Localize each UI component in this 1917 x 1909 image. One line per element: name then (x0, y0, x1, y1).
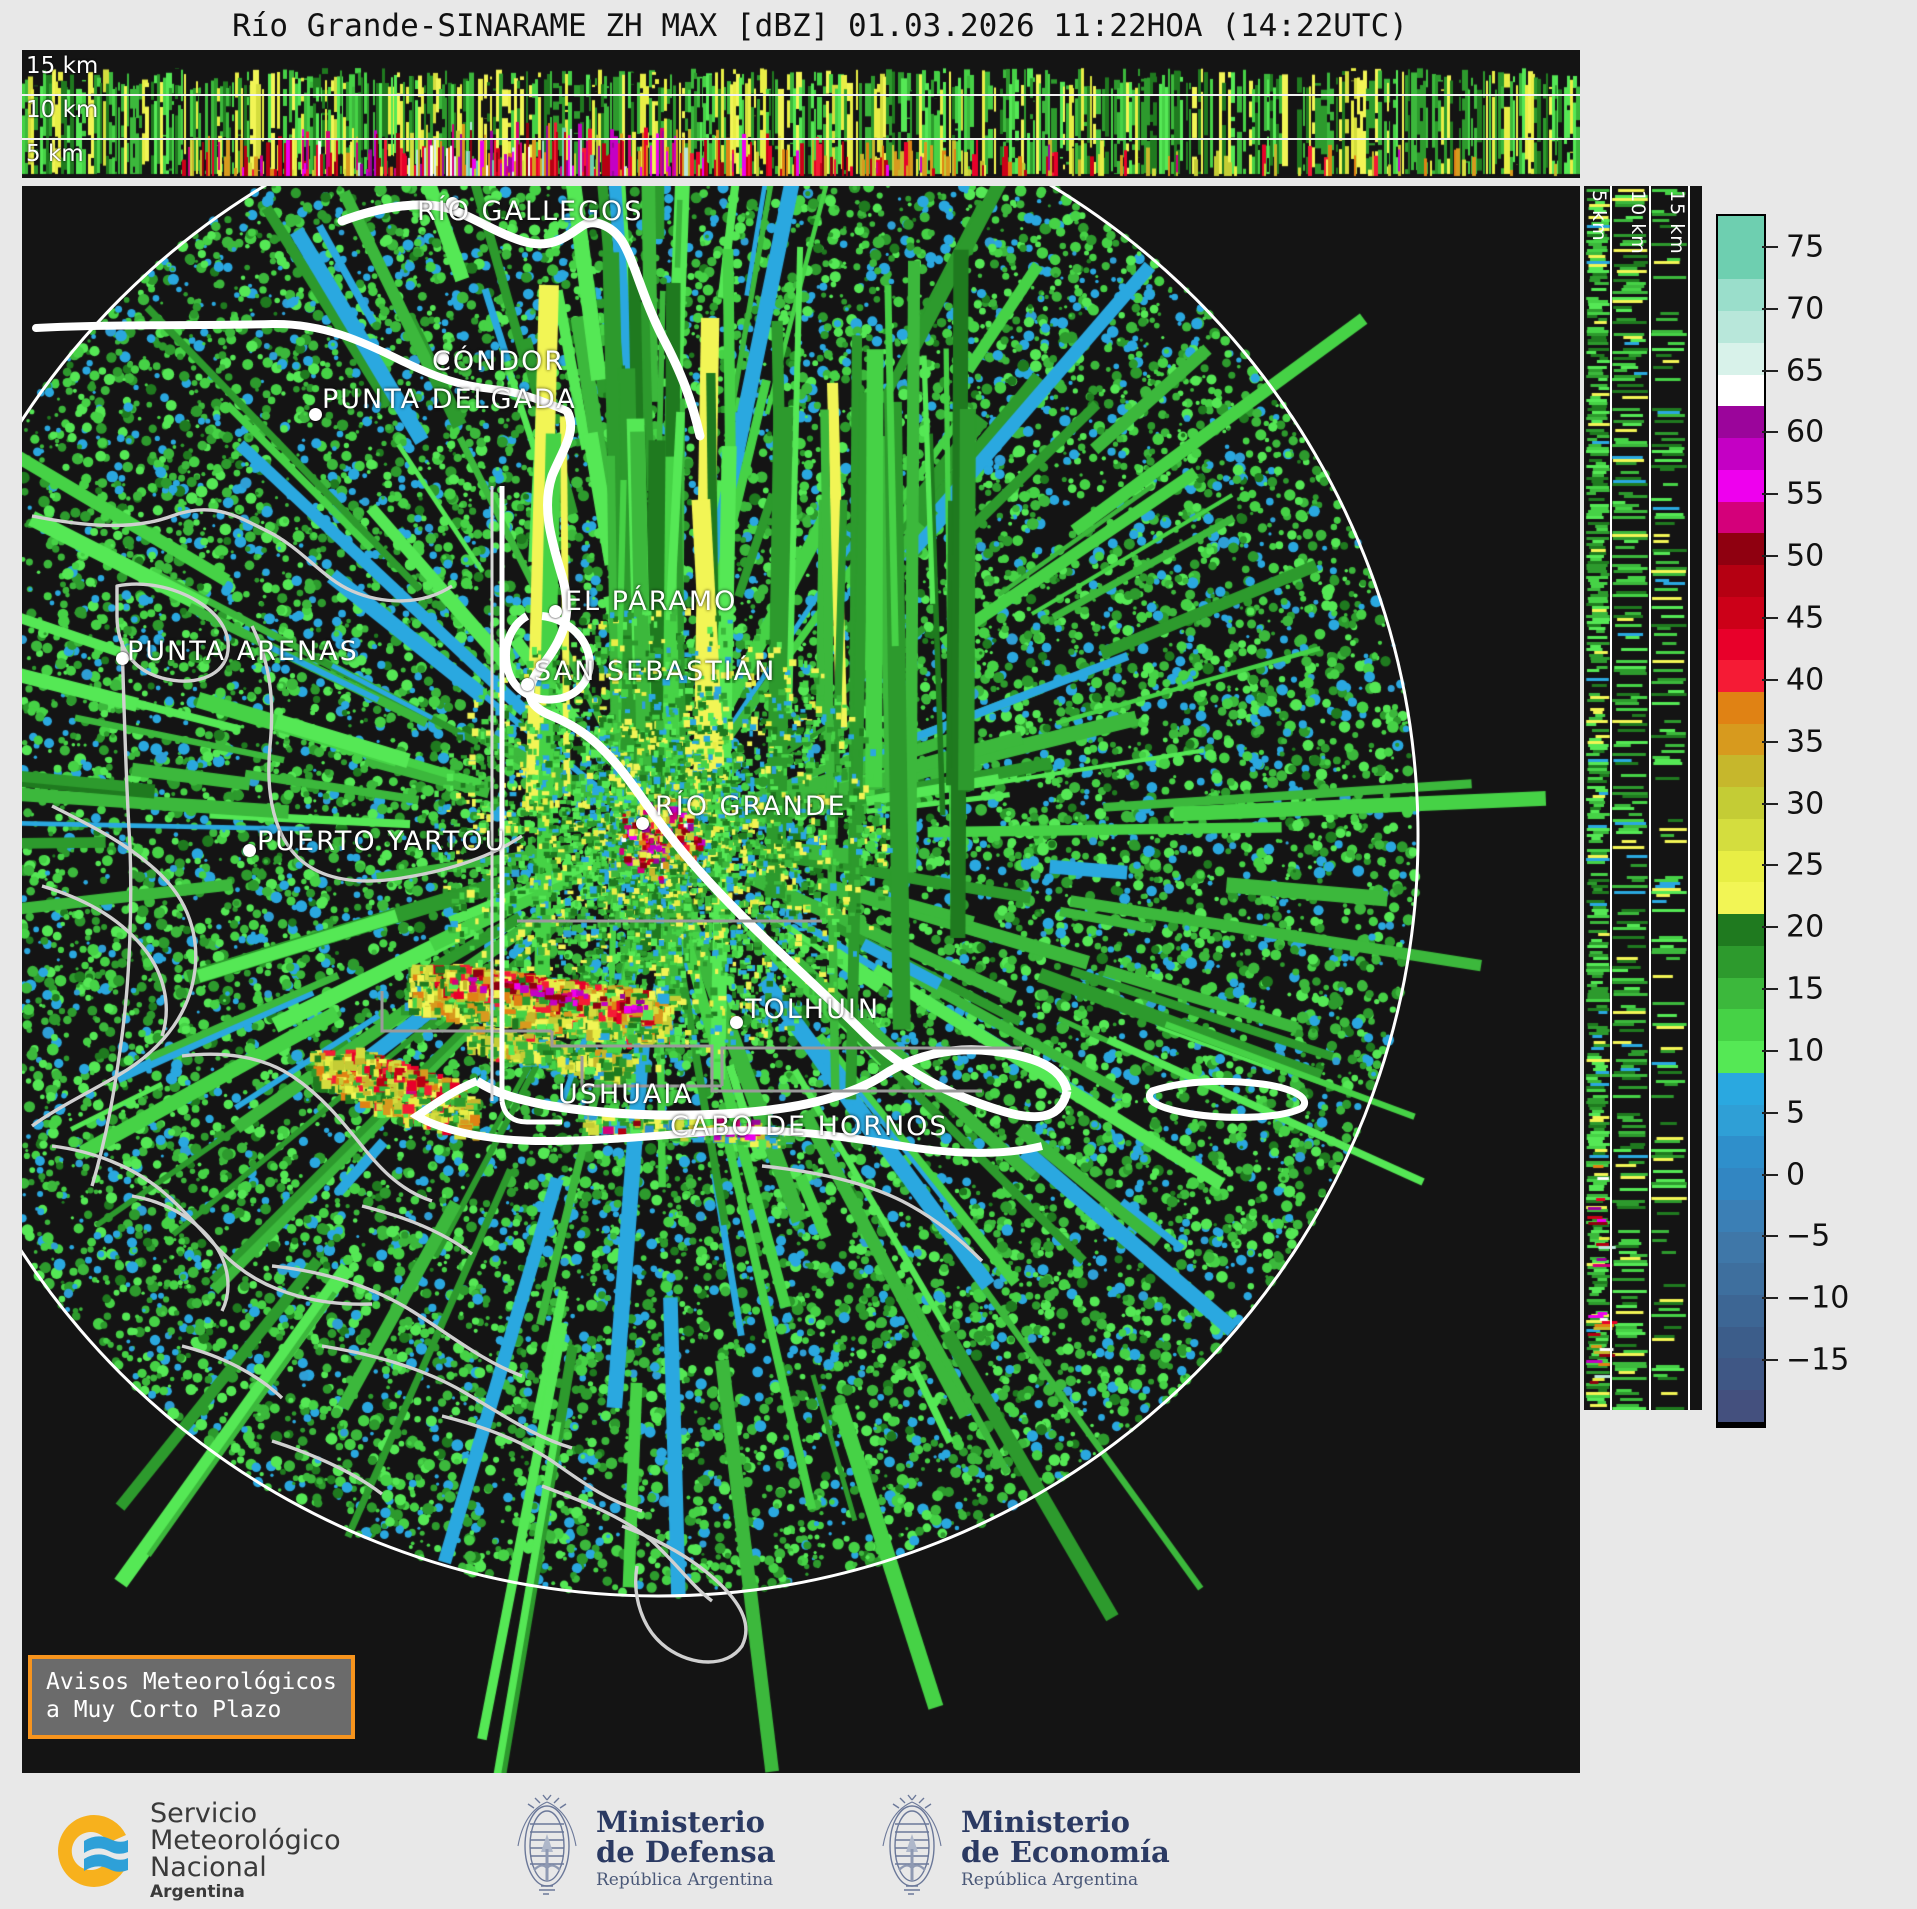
city-marker-dot[interactable] (309, 408, 322, 421)
island-estados (1149, 1081, 1304, 1117)
city-label: RÍO GRANDE (655, 791, 847, 822)
coast-thin-1 (32, 510, 452, 601)
colorbar-segment (1718, 597, 1764, 629)
colorbar-segment (1718, 851, 1764, 883)
colorbar-segment (1718, 787, 1764, 819)
colorbar-tick (1762, 741, 1778, 743)
colorbar-tick (1762, 1359, 1778, 1361)
colorbar-segment (1718, 343, 1764, 375)
colorbar-segment (1718, 1358, 1764, 1390)
warning-badge-line2: a Muy Corto Plazo (46, 1696, 337, 1724)
warning-badge[interactable]: Avisos Meteorológicos a Muy Corto Plazo (28, 1655, 355, 1739)
colorbar-segment (1718, 882, 1764, 914)
strip-label-15km: 15 km (1666, 190, 1688, 255)
economia-line-3: República Argentina (961, 1872, 1170, 1890)
colorbar-segment (1718, 660, 1764, 692)
ministerio-economia-text: Ministerio de Economía República Argenti… (961, 1807, 1170, 1890)
strip-label-5km: 5 km (1588, 190, 1610, 242)
strip-rule-5km (1610, 186, 1612, 1410)
defensa-line-2: de Defensa (596, 1837, 776, 1867)
colorbar-segment (1718, 1168, 1764, 1200)
colorbar-tick-label: 50 (1786, 539, 1824, 574)
city-marker-dot[interactable] (549, 605, 562, 618)
smn-logo-text: Servicio Meteorológico Nacional Argentin… (150, 1800, 341, 1901)
cross-section-gridline-5km (22, 138, 1580, 140)
smn-line-2: Meteorológico (150, 1827, 341, 1854)
strip-rule-10km (1649, 186, 1651, 1410)
border-5 (382, 991, 552, 1031)
smn-line-1: Servicio (150, 1800, 341, 1827)
colorbar-segment (1718, 914, 1764, 946)
strip-label-10km: 10 km (1627, 190, 1649, 255)
argentina-shield-icon-defensa (510, 1794, 584, 1902)
colorbar-segment (1718, 502, 1764, 534)
colorbar-tick (1762, 555, 1778, 557)
coast-thin-4 (32, 806, 196, 1126)
colorbar-segment (1718, 438, 1764, 470)
ministerio-defensa-text: Ministerio de Defensa República Argentin… (596, 1807, 776, 1890)
coast-thin-10 (322, 1346, 572, 1448)
cross-section-label-15km: 15 km (26, 53, 98, 79)
smn-line-3: Nacional (150, 1854, 341, 1881)
coast-thin-11 (442, 1416, 642, 1511)
colorbar-segment (1718, 533, 1764, 565)
cross-section-echo-canvas (22, 50, 1580, 178)
colorbar-tick-label: 60 (1786, 415, 1824, 450)
colorbar-tick-label: 55 (1786, 477, 1824, 512)
colorbar-tick-label: 35 (1786, 724, 1824, 759)
coast-thin-16 (182, 1346, 282, 1398)
colorbar-tick-label: 10 (1786, 1033, 1824, 1068)
colorbar-tick-label: 70 (1786, 291, 1824, 326)
colorbar-tick (1762, 1235, 1778, 1237)
cross-section-gridline-10km (22, 94, 1580, 96)
colorbar-tick (1762, 988, 1778, 990)
defensa-line-1: Ministerio (596, 1807, 776, 1837)
footer-logos: Servicio Meteorológico Nacional Argentin… (0, 1786, 1917, 1909)
coast-thin-14 (762, 1166, 982, 1261)
city-label: EL PÁRAMO (565, 586, 737, 617)
city-marker-dot[interactable] (521, 678, 534, 691)
colorbar-segment (1718, 1390, 1764, 1422)
city-label: SAN SEBASTIÁN (534, 656, 776, 687)
colorbar-segment (1718, 978, 1764, 1010)
colorbar-segment (1718, 470, 1764, 502)
colorbar-tick (1762, 493, 1778, 495)
city-label: USHUAIA (558, 1079, 694, 1110)
defensa-line-3: República Argentina (596, 1872, 776, 1890)
coast-thin-5 (42, 886, 166, 1036)
coast-thin-15 (362, 1206, 472, 1254)
colorbar-segment (1718, 946, 1764, 978)
coast-thin-9 (272, 1266, 522, 1376)
colorbar-tick-label: 5 (1786, 1095, 1805, 1130)
logo-smn: Servicio Meteorológico Nacional Argentin… (52, 1800, 341, 1901)
colorbar-segment (1718, 279, 1764, 311)
height-strips-canvas (1584, 186, 1702, 1410)
economia-line-1: Ministerio (961, 1807, 1170, 1837)
coast-thin-6 (182, 1054, 432, 1201)
coast-thin-13 (622, 1526, 746, 1662)
colorbar-segment (1718, 565, 1764, 597)
colorbar-tick-label: 45 (1786, 601, 1824, 636)
coast-thin-7 (52, 1146, 372, 1304)
colorbar-segment (1718, 375, 1764, 407)
coast-thin-12 (542, 1486, 712, 1601)
colorbar-tick-label: 20 (1786, 910, 1824, 945)
colorbar-tick-label: 40 (1786, 662, 1824, 697)
colorbar-tick (1762, 1050, 1778, 1052)
logo-ministerio-defensa: Ministerio de Defensa República Argentin… (510, 1794, 776, 1902)
colorbar-segment (1718, 311, 1764, 343)
map-vector-overlay (22, 186, 1580, 1773)
colorbar-tick (1762, 1112, 1778, 1114)
city-label: CÓNDOR (432, 346, 565, 377)
colorbar-tick (1762, 1174, 1778, 1176)
economia-line-2: de Economía (961, 1837, 1170, 1867)
warning-badge-line1: Avisos Meteorológicos (46, 1668, 337, 1696)
cross-section-label-5km: 5 km (26, 141, 84, 167)
colorbar-segment (1718, 629, 1764, 661)
colorbar-tick (1762, 246, 1778, 248)
colorbar-tick-group: 757065605550454035302520151050−5−10−15 (1762, 214, 1912, 1424)
city-label: RÍO GALLEGOS (417, 196, 643, 227)
colorbar-tick-label: 30 (1786, 786, 1824, 821)
city-marker-dot[interactable] (730, 1016, 743, 1029)
vertical-cross-section-panel: 15 km 10 km 5 km (22, 50, 1580, 178)
radar-map-panel[interactable]: RÍO GALLEGOSCÓNDORPUNTA DELGADAEL PÁRAMO… (22, 186, 1580, 1773)
colorbar-segment (1718, 1295, 1764, 1327)
colorbar-segment (1718, 724, 1764, 756)
strip-rule-15km (1688, 186, 1690, 1410)
colorbar-tick (1762, 679, 1778, 681)
coast-thin-8 (132, 1196, 228, 1311)
colorbar-segment (1718, 1041, 1764, 1073)
colorbar-tick-label: 25 (1786, 848, 1824, 883)
colorbar (1716, 214, 1766, 1428)
colorbar-segment (1718, 1327, 1764, 1359)
colorbar-tick (1762, 1297, 1778, 1299)
colorbar-tick-label: −10 (1786, 1281, 1849, 1316)
city-label: PUERTO YARTOU (257, 826, 506, 857)
colorbar-tick-label: 65 (1786, 353, 1824, 388)
colorbar-tick (1762, 926, 1778, 928)
city-marker-dot[interactable] (636, 817, 649, 830)
page-title: Río Grande-SINARAME ZH MAX [dBZ] 01.03.2… (0, 8, 1640, 44)
colorbar-tick (1762, 308, 1778, 310)
cross-section-label-10km: 10 km (26, 97, 98, 123)
colorbar-segment (1718, 216, 1764, 248)
city-marker-dot[interactable] (243, 844, 256, 857)
colorbar-segment (1718, 248, 1764, 280)
colorbar-segment (1718, 1232, 1764, 1264)
colorbar-segment (1718, 819, 1764, 851)
coast-thin-2 (92, 641, 131, 1186)
argentina-shield-icon-economia (875, 1794, 949, 1902)
colorbar-segment (1718, 1105, 1764, 1137)
colorbar-segment (1718, 1136, 1764, 1168)
height-strips-panel: 5 km 10 km 15 km (1584, 186, 1702, 1410)
colorbar-segment (1718, 755, 1764, 787)
coast-thin-17 (272, 1441, 382, 1494)
city-label: PUNTA DELGADA (322, 384, 577, 415)
colorbar-tick (1762, 803, 1778, 805)
colorbar-tick-label: 0 (1786, 1157, 1805, 1192)
city-label: CABO DE HORNOS (670, 1111, 949, 1142)
colorbar-segment (1718, 1200, 1764, 1232)
smn-line-4: Argentina (150, 1884, 341, 1901)
colorbar-tick (1762, 431, 1778, 433)
colorbar-segment (1718, 692, 1764, 724)
colorbar-tick (1762, 370, 1778, 372)
colorbar-tick-label: 15 (1786, 972, 1824, 1007)
colorbar-segment (1718, 1263, 1764, 1295)
smn-logo-mark (52, 1809, 136, 1893)
logo-ministerio-economia: Ministerio de Economía República Argenti… (875, 1794, 1170, 1902)
colorbar-tick (1762, 864, 1778, 866)
colorbar-segment (1718, 406, 1764, 438)
colorbar-segment (1718, 1009, 1764, 1041)
city-label: PUNTA ARENAS (127, 636, 359, 667)
colorbar-tick-label: −5 (1786, 1219, 1830, 1254)
colorbar-tick (1762, 617, 1778, 619)
colorbar-tick-label: 75 (1786, 229, 1824, 264)
colorbar-segment (1718, 1073, 1764, 1105)
colorbar-tick-label: −15 (1786, 1343, 1849, 1378)
city-label: TOLHUIN (745, 994, 880, 1025)
